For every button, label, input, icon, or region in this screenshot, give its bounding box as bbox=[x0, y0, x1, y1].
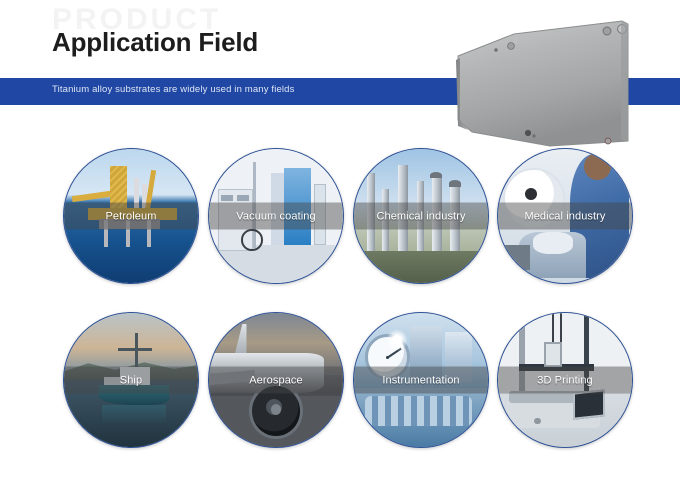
field-label-band: Aerospace bbox=[209, 367, 343, 394]
field-label: 3D Printing bbox=[537, 374, 593, 386]
application-field-page: PRODUCT Application Field Titanium alloy… bbox=[0, 0, 680, 485]
field-label-band: Ship bbox=[64, 367, 198, 394]
field-label: Vacuum coating bbox=[236, 210, 315, 222]
grid-row-2: Ship Aerospace bbox=[0, 312, 680, 476]
banner-subtitle-text: Titanium alloy substrates are widely use… bbox=[52, 85, 295, 95]
field-card-chemical-industry[interactable]: Chemical industry bbox=[353, 148, 489, 284]
page-title: Application Field bbox=[52, 28, 258, 58]
field-label: Ship bbox=[120, 374, 142, 386]
field-card-vacuum-coating[interactable]: Vacuum coating bbox=[208, 148, 344, 284]
field-label-band: Instrumentation bbox=[354, 367, 488, 394]
field-card-aerospace[interactable]: Aerospace bbox=[208, 312, 344, 448]
field-label: Medical industry bbox=[524, 210, 605, 222]
field-card-medical-industry[interactable]: Medical industry bbox=[497, 148, 633, 284]
field-label: Instrumentation bbox=[382, 374, 459, 386]
field-label-band: 3D Printing bbox=[498, 367, 632, 394]
field-card-instrumentation[interactable]: Instrumentation bbox=[353, 312, 489, 448]
field-label-band: Chemical industry bbox=[354, 203, 488, 230]
field-card-3d-printing[interactable]: 3D Printing bbox=[497, 312, 633, 448]
field-label-band: Medical industry bbox=[498, 203, 632, 230]
application-grid: Petroleum Vacuum coating bbox=[0, 148, 680, 476]
field-label: Chemical industry bbox=[376, 210, 465, 222]
field-card-petroleum[interactable]: Petroleum bbox=[63, 148, 199, 284]
product-photo bbox=[432, 0, 680, 152]
field-label: Aerospace bbox=[249, 374, 303, 386]
titanium-plate-image bbox=[432, 0, 680, 152]
field-label: Petroleum bbox=[105, 210, 156, 222]
grid-row-1: Petroleum Vacuum coating bbox=[0, 148, 680, 312]
field-label-band: Vacuum coating bbox=[209, 203, 343, 230]
field-card-ship[interactable]: Ship bbox=[63, 312, 199, 448]
field-label-band: Petroleum bbox=[64, 203, 198, 230]
